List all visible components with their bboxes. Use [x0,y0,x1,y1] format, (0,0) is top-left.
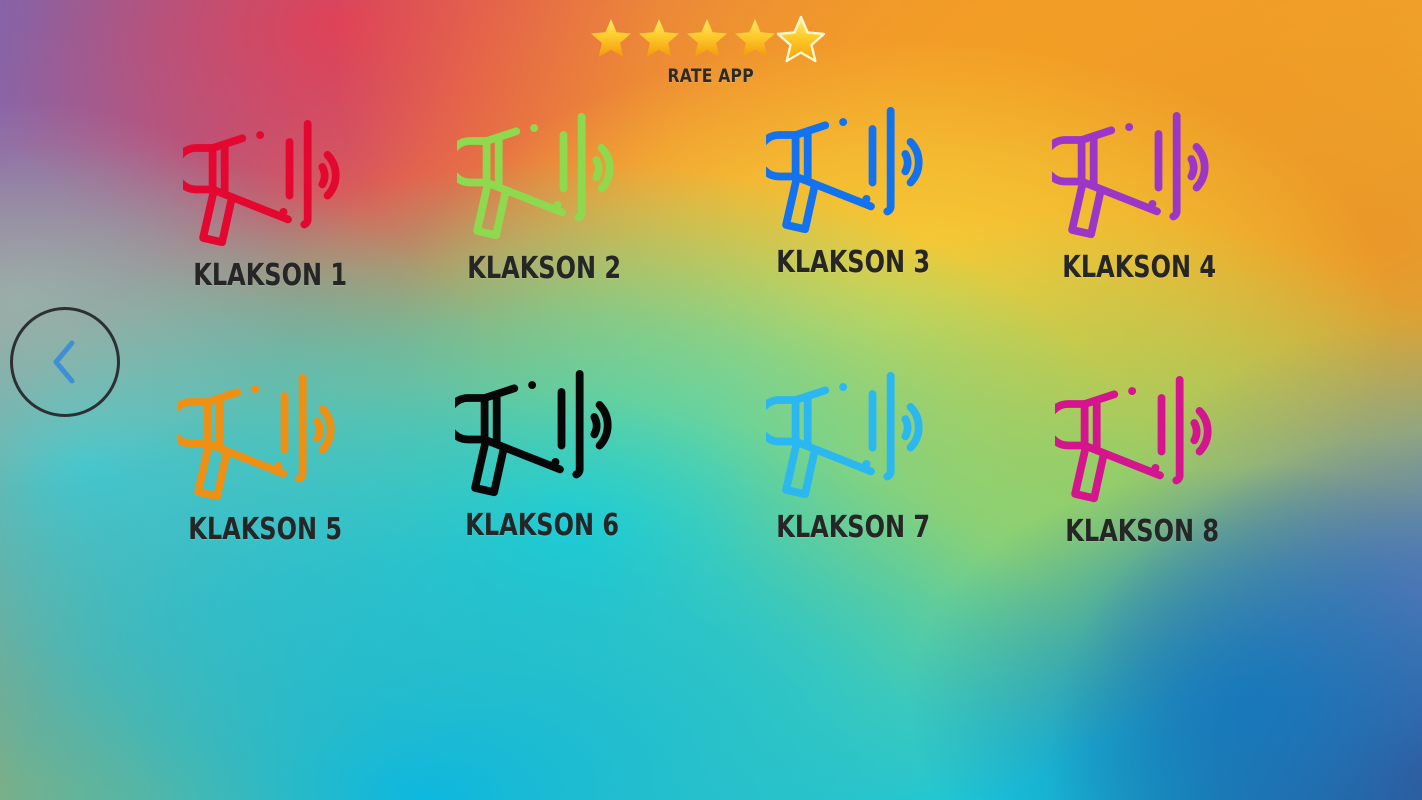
star-rating[interactable] [587,14,835,64]
klakson-item[interactable]: KLAKSON 2 [404,103,684,286]
klakson-item-label: KLAKSON 1 [193,258,347,293]
star-icon[interactable] [587,14,635,64]
megaphone-icon [1055,366,1230,506]
app-screen: RATE APP KLAKSON 1 [0,0,1422,800]
klakson-item[interactable]: KLAKSON 1 [130,110,410,293]
megaphone-icon [1052,102,1227,242]
klakson-item[interactable]: KLAKSON 6 [402,360,682,543]
klakson-item-label: KLAKSON 7 [776,510,930,545]
megaphone-icon [178,364,353,504]
klakson-item[interactable]: KLAKSON 4 [999,102,1279,285]
klakson-item[interactable]: KLAKSON 7 [713,362,993,545]
chevron-left-icon [45,335,85,389]
klakson-item-label: KLAKSON 8 [1065,514,1219,549]
klakson-grid: KLAKSON 1 KLAKSON 2 [130,110,1380,610]
megaphone-icon [457,103,632,243]
klakson-item-label: KLAKSON 2 [467,251,621,286]
megaphone-icon [455,360,630,500]
megaphone-icon [183,110,358,250]
klakson-item-label: KLAKSON 5 [188,512,342,547]
klakson-item-label: KLAKSON 4 [1062,250,1216,285]
back-button[interactable] [10,307,120,417]
star-icon[interactable] [779,14,835,64]
klakson-item[interactable]: KLAKSON 5 [125,364,405,547]
megaphone-icon [766,97,941,237]
klakson-item[interactable]: KLAKSON 8 [1002,366,1282,549]
star-icon[interactable] [635,14,683,64]
rate-app-button[interactable]: RATE APP [0,14,1422,87]
klakson-item[interactable]: KLAKSON 3 [713,97,993,280]
star-icon[interactable] [731,14,779,64]
star-icon[interactable] [683,14,731,64]
megaphone-icon [766,362,941,502]
rate-app-label: RATE APP [668,65,754,87]
klakson-item-label: KLAKSON 3 [776,245,930,280]
klakson-item-label: KLAKSON 6 [465,508,619,543]
